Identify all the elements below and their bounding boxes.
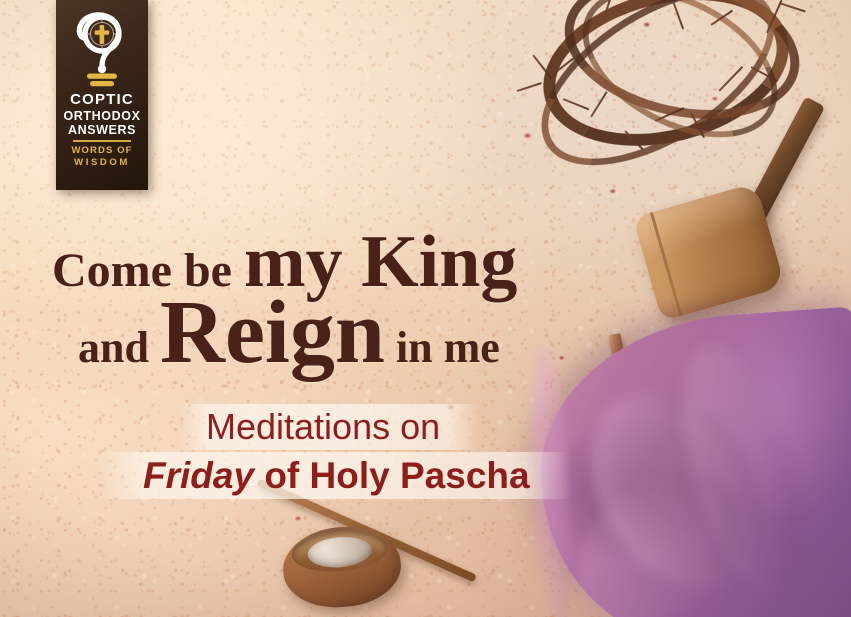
crown-of-thorns <box>505 0 851 200</box>
subtitle-meditations-on: Meditations on <box>0 404 620 450</box>
subtitle-friday-of-holy-pascha: Friday of Holy Pascha <box>0 452 620 499</box>
subtitle: Meditations on Friday of Holy Pascha <box>0 404 620 499</box>
headline-and: and <box>78 323 149 372</box>
pascha-poster: COPTIC ORTHODOX ANSWERS WORDS OF WISDOM … <box>0 0 851 617</box>
logo-divider <box>73 140 131 142</box>
question-mark-lightbulb-with-cross-icon <box>71 8 133 90</box>
page-title: Come be my King and Reign in me <box>0 228 600 375</box>
subtitle-row-2: Friday of Holy Pascha <box>0 452 620 499</box>
headline-reign: Reign <box>160 283 385 382</box>
logo-wordmark: COPTIC ORTHODOX ANSWERS WORDS OF WISDOM <box>56 92 148 168</box>
thorn-spike <box>779 2 806 13</box>
subtitle-row-1: Meditations on <box>0 404 620 450</box>
subtitle-friday: Friday <box>143 455 254 496</box>
thorn-spike <box>517 82 542 92</box>
logo-line-answers: ANSWERS <box>56 123 148 137</box>
logo-tagline-words: WORDS OF <box>56 145 148 156</box>
headline-in-me: in me <box>396 323 500 372</box>
headline-line-2: and Reign in me <box>0 292 600 375</box>
logo-line-coptic: COPTIC <box>56 92 148 109</box>
logo-tagline-wisdom: WISDOM <box>56 157 148 168</box>
coptic-orthodox-answers-logo[interactable]: COPTIC ORTHODOX ANSWERS WORDS OF WISDOM <box>56 0 148 190</box>
logo-line-orthodox: ORTHODOX <box>56 109 148 123</box>
mallet-wood-grain <box>648 194 769 310</box>
subtitle-of-holy-pascha: of Holy Pascha <box>264 455 529 496</box>
